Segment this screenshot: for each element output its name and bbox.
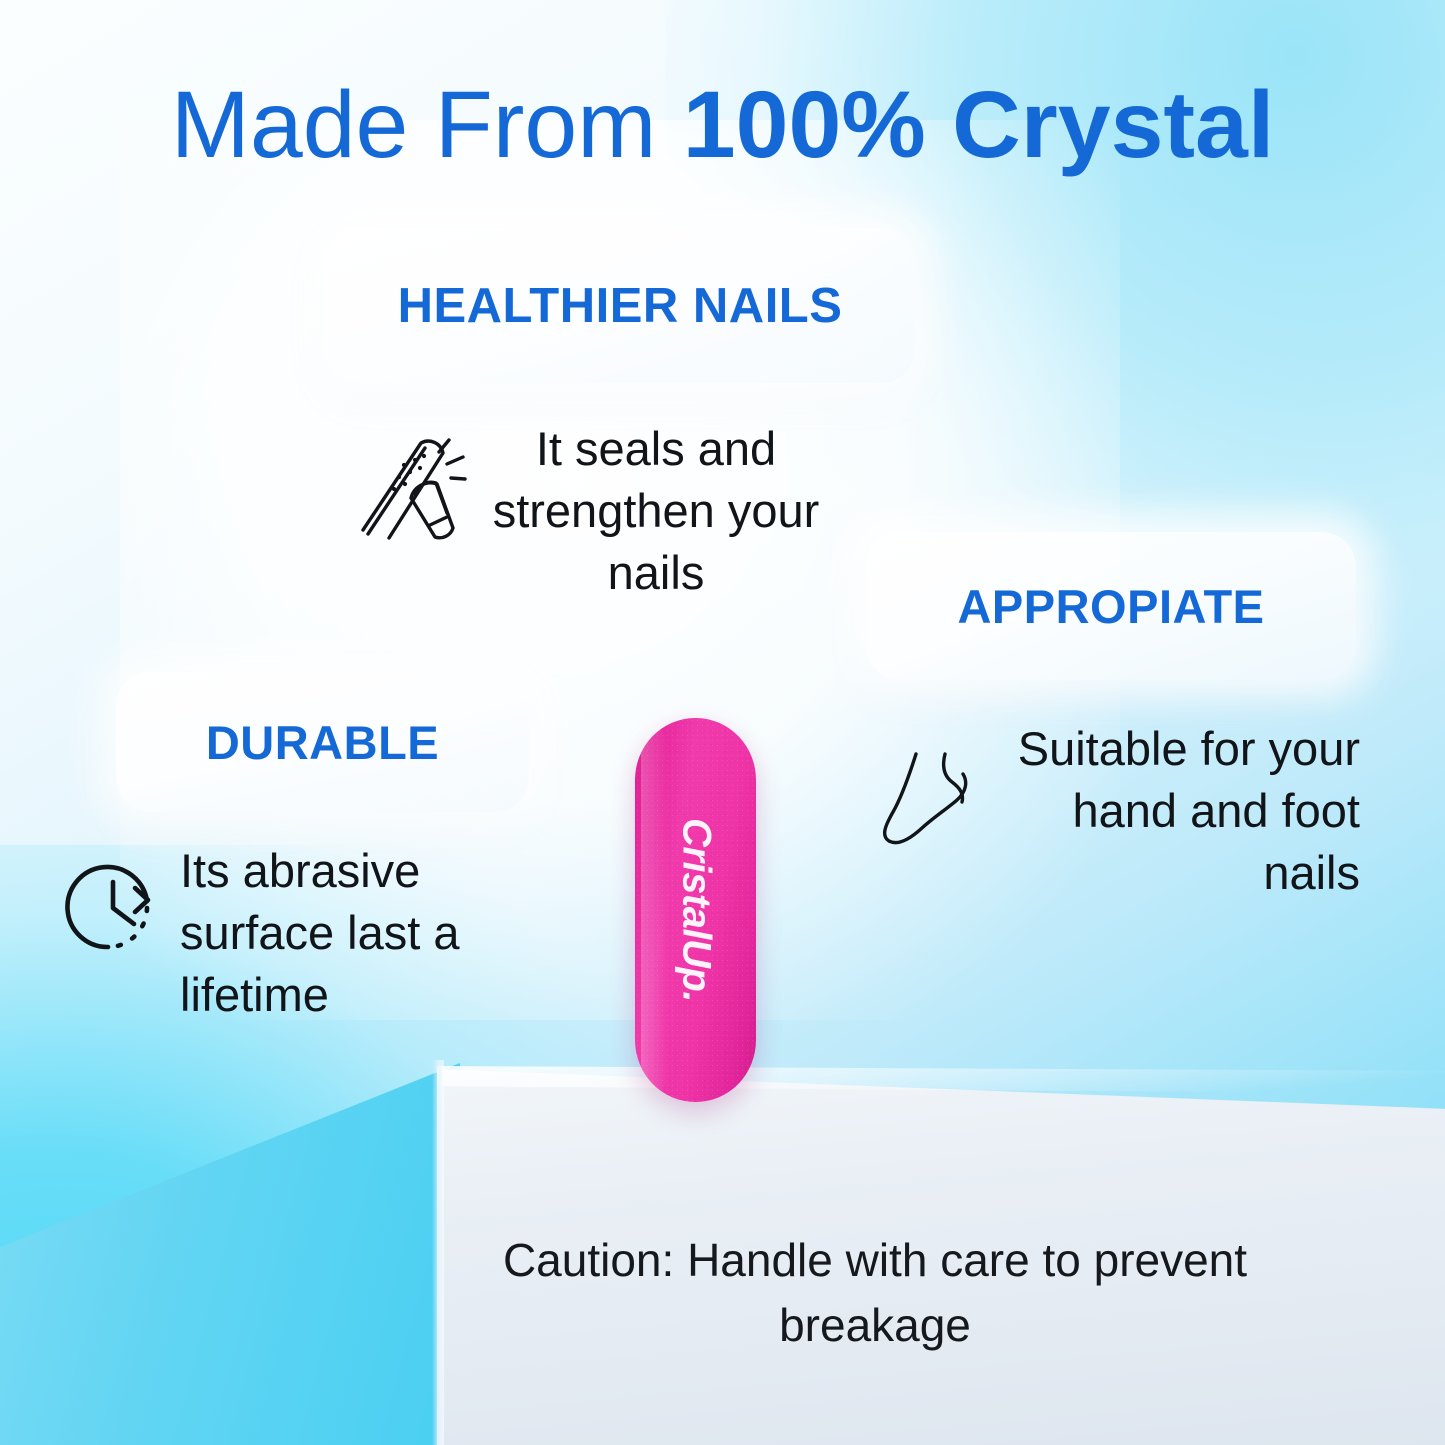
product-sheen xyxy=(641,728,667,1092)
badge-appropiate: APPROPIATE xyxy=(866,532,1356,680)
product-brand-logo: CristalUp. xyxy=(673,818,718,1002)
pedestal-left-face xyxy=(0,1063,460,1445)
clock-lifetime-icon xyxy=(62,854,164,961)
caution-note: Caution: Handle with care to prevent bre… xyxy=(460,1228,1290,1359)
badge-appropiate-label: APPROPIATE xyxy=(957,579,1264,634)
feature-seals-strengthen: It seals and strengthen your nails xyxy=(355,418,825,604)
pedestal-corner-edge xyxy=(432,1060,444,1445)
feature-suitable-hand-foot: Suitable for your hand and foot nails xyxy=(876,718,1362,904)
nail-file-sparkle-icon xyxy=(355,426,473,549)
page-title-heavy: 100% Crystal xyxy=(683,72,1274,178)
feature-suitable-text: Suitable for your hand and foot nails xyxy=(1010,718,1360,904)
foot-icon xyxy=(876,736,998,863)
product-infographic: Made From 100% Crystal HEALTHIER NAILS A… xyxy=(0,0,1445,1445)
feature-abrasive-text: Its abrasive surface last a lifetime xyxy=(180,840,556,1026)
page-title: Made From 100% Crystal xyxy=(0,74,1445,177)
badge-healthier-nails-label: HEALTHIER NAILS xyxy=(398,278,843,334)
page-title-light: Made From xyxy=(171,72,683,178)
badge-healthier-nails: HEALTHIER NAILS xyxy=(325,228,915,383)
product-nail-file: CristalUp. xyxy=(635,718,756,1102)
badge-durable-label: DURABLE xyxy=(206,715,439,770)
feature-durable-lifetime: Its abrasive surface last a lifetime xyxy=(62,840,562,1026)
badge-durable: DURABLE xyxy=(116,672,529,812)
feature-seals-text: It seals and strengthen your nails xyxy=(491,418,821,604)
